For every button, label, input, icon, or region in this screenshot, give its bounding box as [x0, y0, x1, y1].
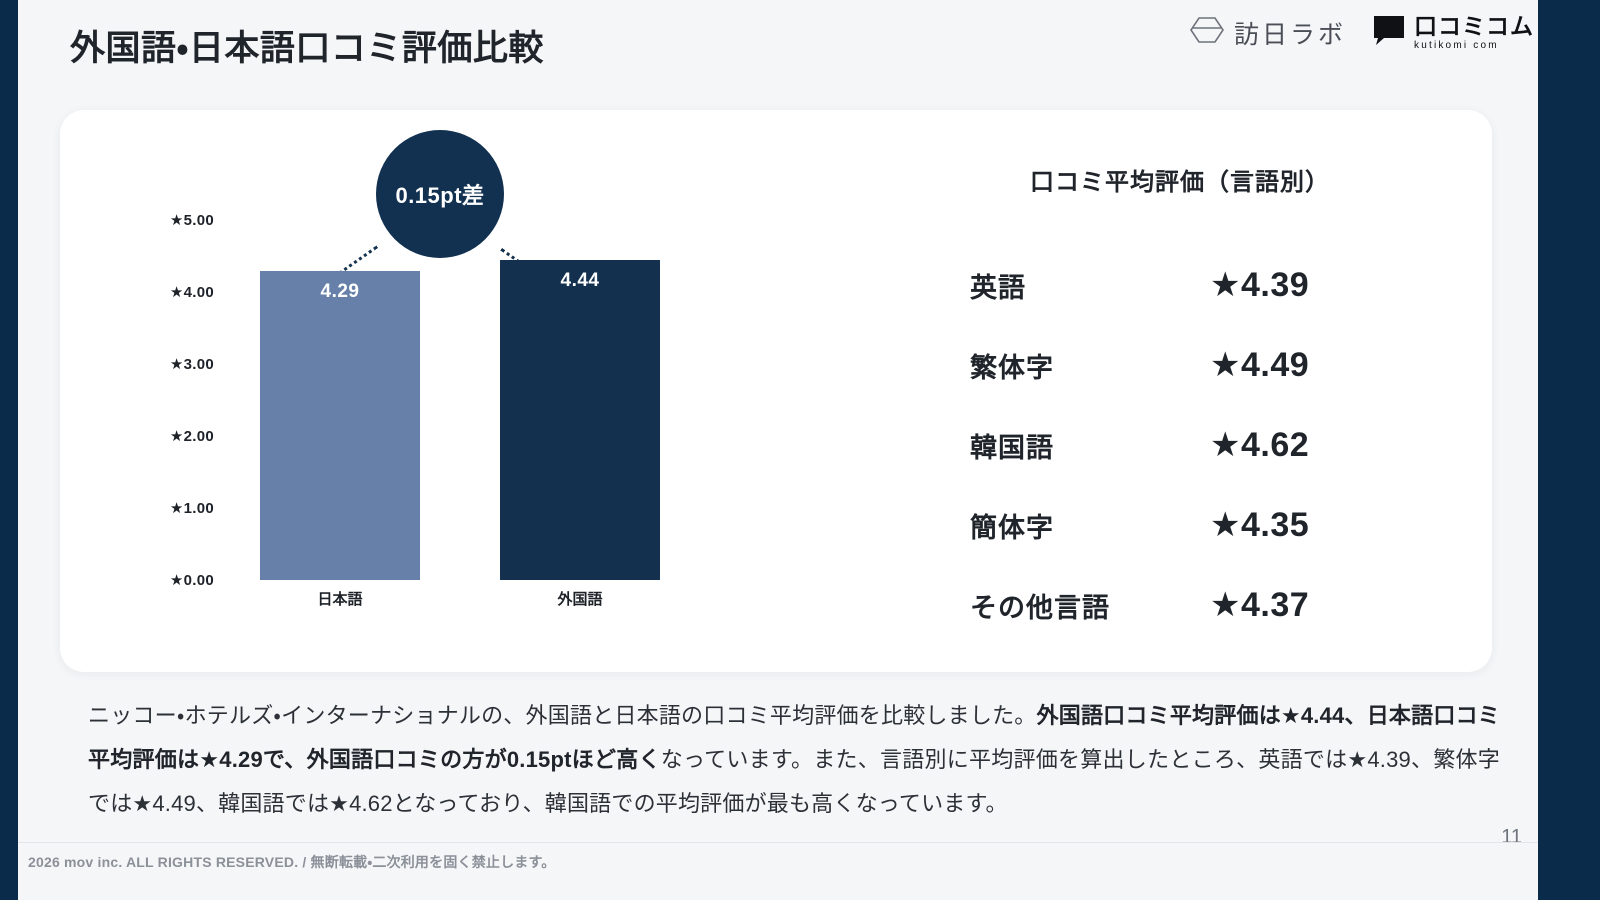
bar-chart: 0.15pt差 ★5.00★4.00★3.00★2.00★1.00★0.00 4… [110, 120, 750, 660]
kutikomi-logo-domain: kutikomi com [1414, 41, 1499, 51]
slide-header: 外国語・日本語口コミ評価比較 訪日ラボ 口コミコム [62, 0, 1538, 92]
homichi-logo-text: 訪日ラボ [1234, 15, 1346, 51]
caption-text-part1: ニッコー・ホテルズ・インターナショナルの、外国語と日本語の口コミ平均評価を比較し… [88, 703, 1037, 728]
kutikomi-logo-text: 口コミコム [1414, 15, 1534, 38]
y-axis-tick: ★1.00 [170, 499, 214, 517]
y-axis-tick: ★5.00 [170, 211, 214, 229]
page-number: 11 [1501, 826, 1522, 849]
logo-group: 訪日ラボ 口コミコム kutikomi com [1190, 14, 1534, 51]
kutikomi-logo-stack: 口コミコム kutikomi com [1414, 15, 1534, 51]
language-row: 繁体字★4.49 [920, 325, 1440, 405]
language-score-panel: 口コミ平均評価（言語別） 英語★4.39繁体字★4.49韓国語★4.62簡体字★… [920, 140, 1440, 640]
bar-2: 4.44 [500, 260, 660, 580]
language-score: ★4.37 [1210, 585, 1410, 625]
caption-paragraph: ニッコー・ホテルズ・インターナショナルの、外国語と日本語の口コミ平均評価を比較し… [88, 694, 1500, 826]
bar-group: 4.29日本語 [260, 220, 420, 580]
y-axis-tick: ★2.00 [170, 427, 214, 445]
footer-copyright: 2026 mov inc. ALL RIGHTS RESERVED. / 無断転… [28, 852, 556, 872]
y-axis-tick: ★0.00 [170, 571, 214, 589]
language-name: 英語 [970, 266, 1210, 305]
slide: 外国語・日本語口コミ評価比較 訪日ラボ 口コミコム [0, 0, 1600, 900]
footer-divider [18, 842, 1538, 843]
y-axis-tick: ★3.00 [170, 355, 214, 373]
language-score: ★4.49 [1210, 345, 1410, 385]
language-name: 韓国語 [970, 426, 1210, 465]
speech-bubble-icon [1372, 14, 1406, 51]
bar-1: 4.29 [260, 271, 420, 580]
bar-value-label: 4.29 [260, 281, 420, 303]
language-score: ★4.62 [1210, 425, 1410, 465]
left-accent-strip [0, 0, 18, 900]
language-name: 簡体字 [970, 506, 1210, 545]
language-name: その他言語 [970, 586, 1210, 625]
homichi-logo: 訪日ラボ [1190, 15, 1346, 51]
language-row: その他言語★4.37 [920, 565, 1440, 645]
y-axis-tick: ★4.00 [170, 283, 214, 301]
bar-value-label: 4.44 [500, 270, 660, 292]
chart-plot-area: ★5.00★4.00★3.00★2.00★1.00★0.00 4.29日本語4.… [110, 220, 750, 580]
language-name: 繁体字 [970, 346, 1210, 385]
bar-category-label: 日本語 [260, 588, 420, 609]
page-title: 外国語・日本語口コミ評価比較 [70, 20, 544, 71]
language-score-list: 英語★4.39繁体字★4.49韓国語★4.62簡体字★4.35その他言語★4.3… [920, 245, 1440, 645]
hexagon-icon [1190, 15, 1224, 50]
y-axis: ★5.00★4.00★3.00★2.00★1.00★0.00 [110, 220, 220, 580]
content-card: 0.15pt差 ★5.00★4.00★3.00★2.00★1.00★0.00 4… [60, 110, 1492, 672]
bar-category-label: 外国語 [500, 588, 660, 609]
bar-group: 4.44外国語 [500, 220, 660, 580]
language-score: ★4.35 [1210, 505, 1410, 545]
right-accent-strip [1538, 0, 1600, 900]
language-score: ★4.39 [1210, 265, 1410, 305]
chart-bars: 4.29日本語4.44外国語 [250, 220, 690, 580]
language-row: 英語★4.39 [920, 245, 1440, 325]
language-row: 簡体字★4.35 [920, 485, 1440, 565]
language-panel-title: 口コミ平均評価（言語別） [920, 162, 1440, 197]
kutikomi-logo: 口コミコム kutikomi com [1372, 14, 1534, 51]
language-row: 韓国語★4.62 [920, 405, 1440, 485]
